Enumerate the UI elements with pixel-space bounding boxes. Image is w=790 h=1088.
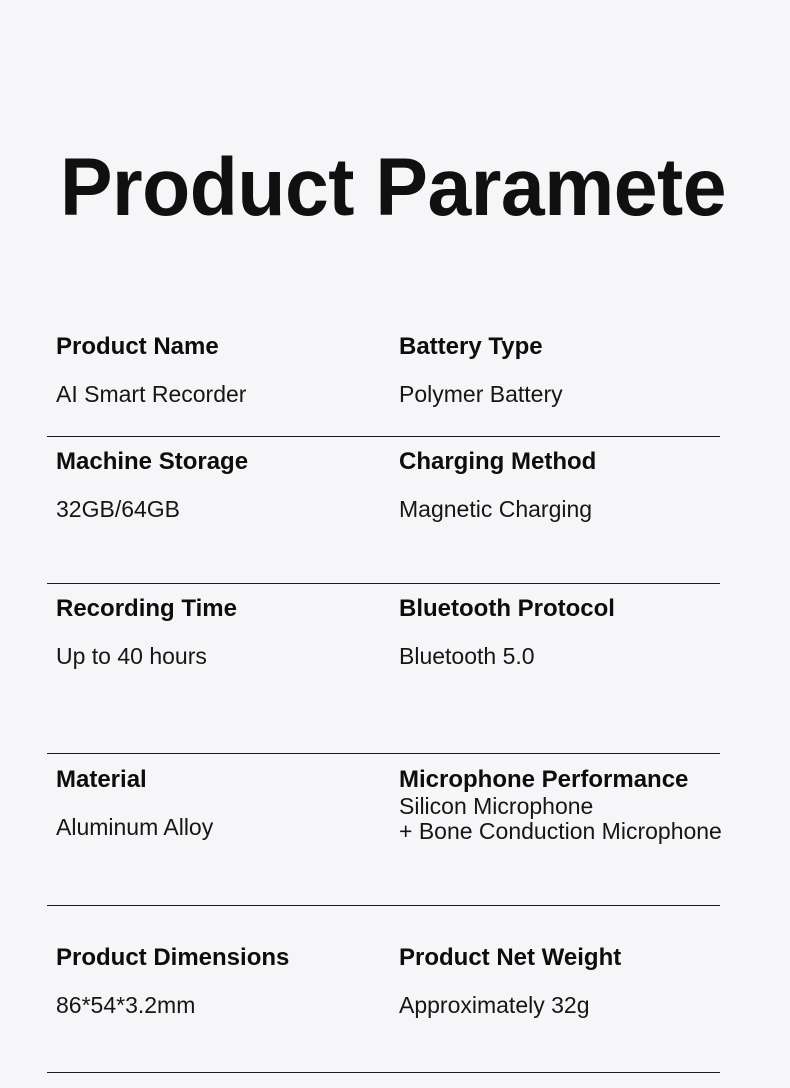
spec-row: Material Aluminum Alloy Microphone Perfo…	[47, 754, 720, 906]
spec-row: Machine Storage 32GB/64GB Charging Metho…	[47, 437, 720, 584]
spec-cell-charging-method: Charging Method Magnetic Charging	[47, 448, 399, 523]
product-parameters-page: Product Paramete Product Name AI Smart R…	[0, 0, 790, 1088]
spec-cell-product-net-weight: Product Net Weight Approximately 32g	[47, 944, 399, 1019]
spec-table: Product Name AI Smart Recorder Battery T…	[47, 327, 720, 1073]
spec-row: Product Dimensions 86*54*3.2mm Product N…	[47, 906, 720, 1073]
spec-cell-battery-type: Battery Type Polymer Battery	[47, 333, 399, 408]
spec-cell-microphone-performance: Microphone Performance Silicon Microphon…	[47, 766, 399, 844]
page-title: Product Paramete	[60, 142, 726, 234]
spec-cell-bluetooth-protocol: Bluetooth Protocol Bluetooth 5.0	[47, 595, 399, 670]
spec-row: Recording Time Up to 40 hours Bluetooth …	[47, 584, 720, 754]
spec-row: Product Name AI Smart Recorder Battery T…	[47, 327, 720, 437]
